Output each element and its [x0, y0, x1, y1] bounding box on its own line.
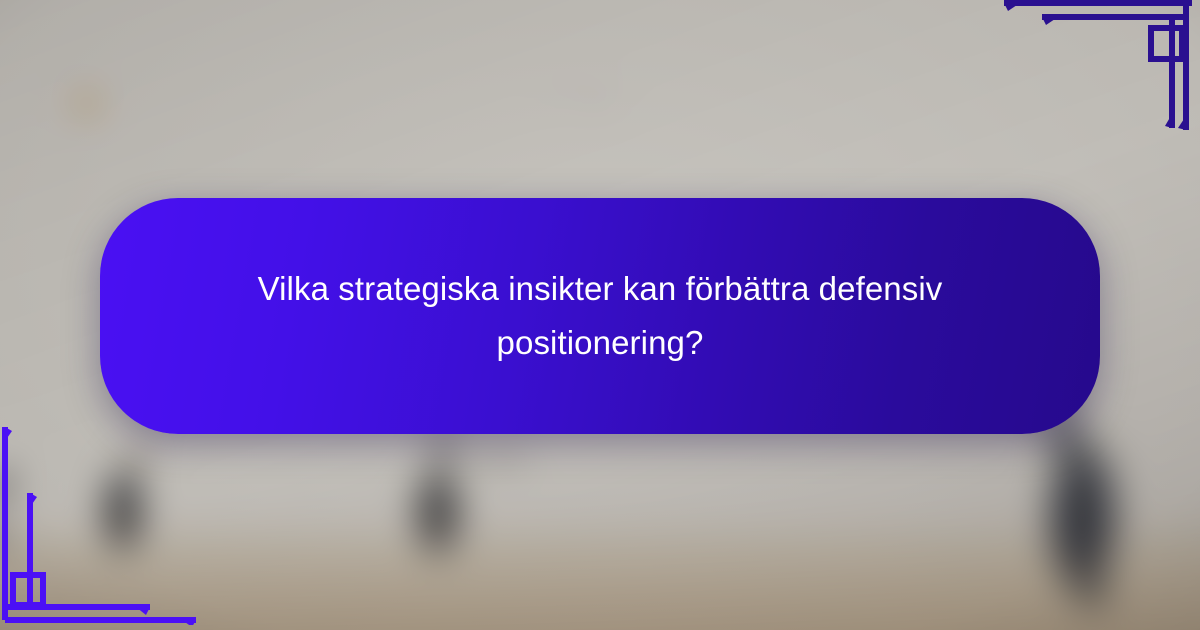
headline-text: Vilka strategiska insikter kan förbättra…	[240, 262, 960, 370]
headline-card: Vilka strategiska insikter kan förbättra…	[100, 198, 1100, 434]
screenshot-canvas: Vilka strategiska insikter kan förbättra…	[0, 0, 1200, 630]
